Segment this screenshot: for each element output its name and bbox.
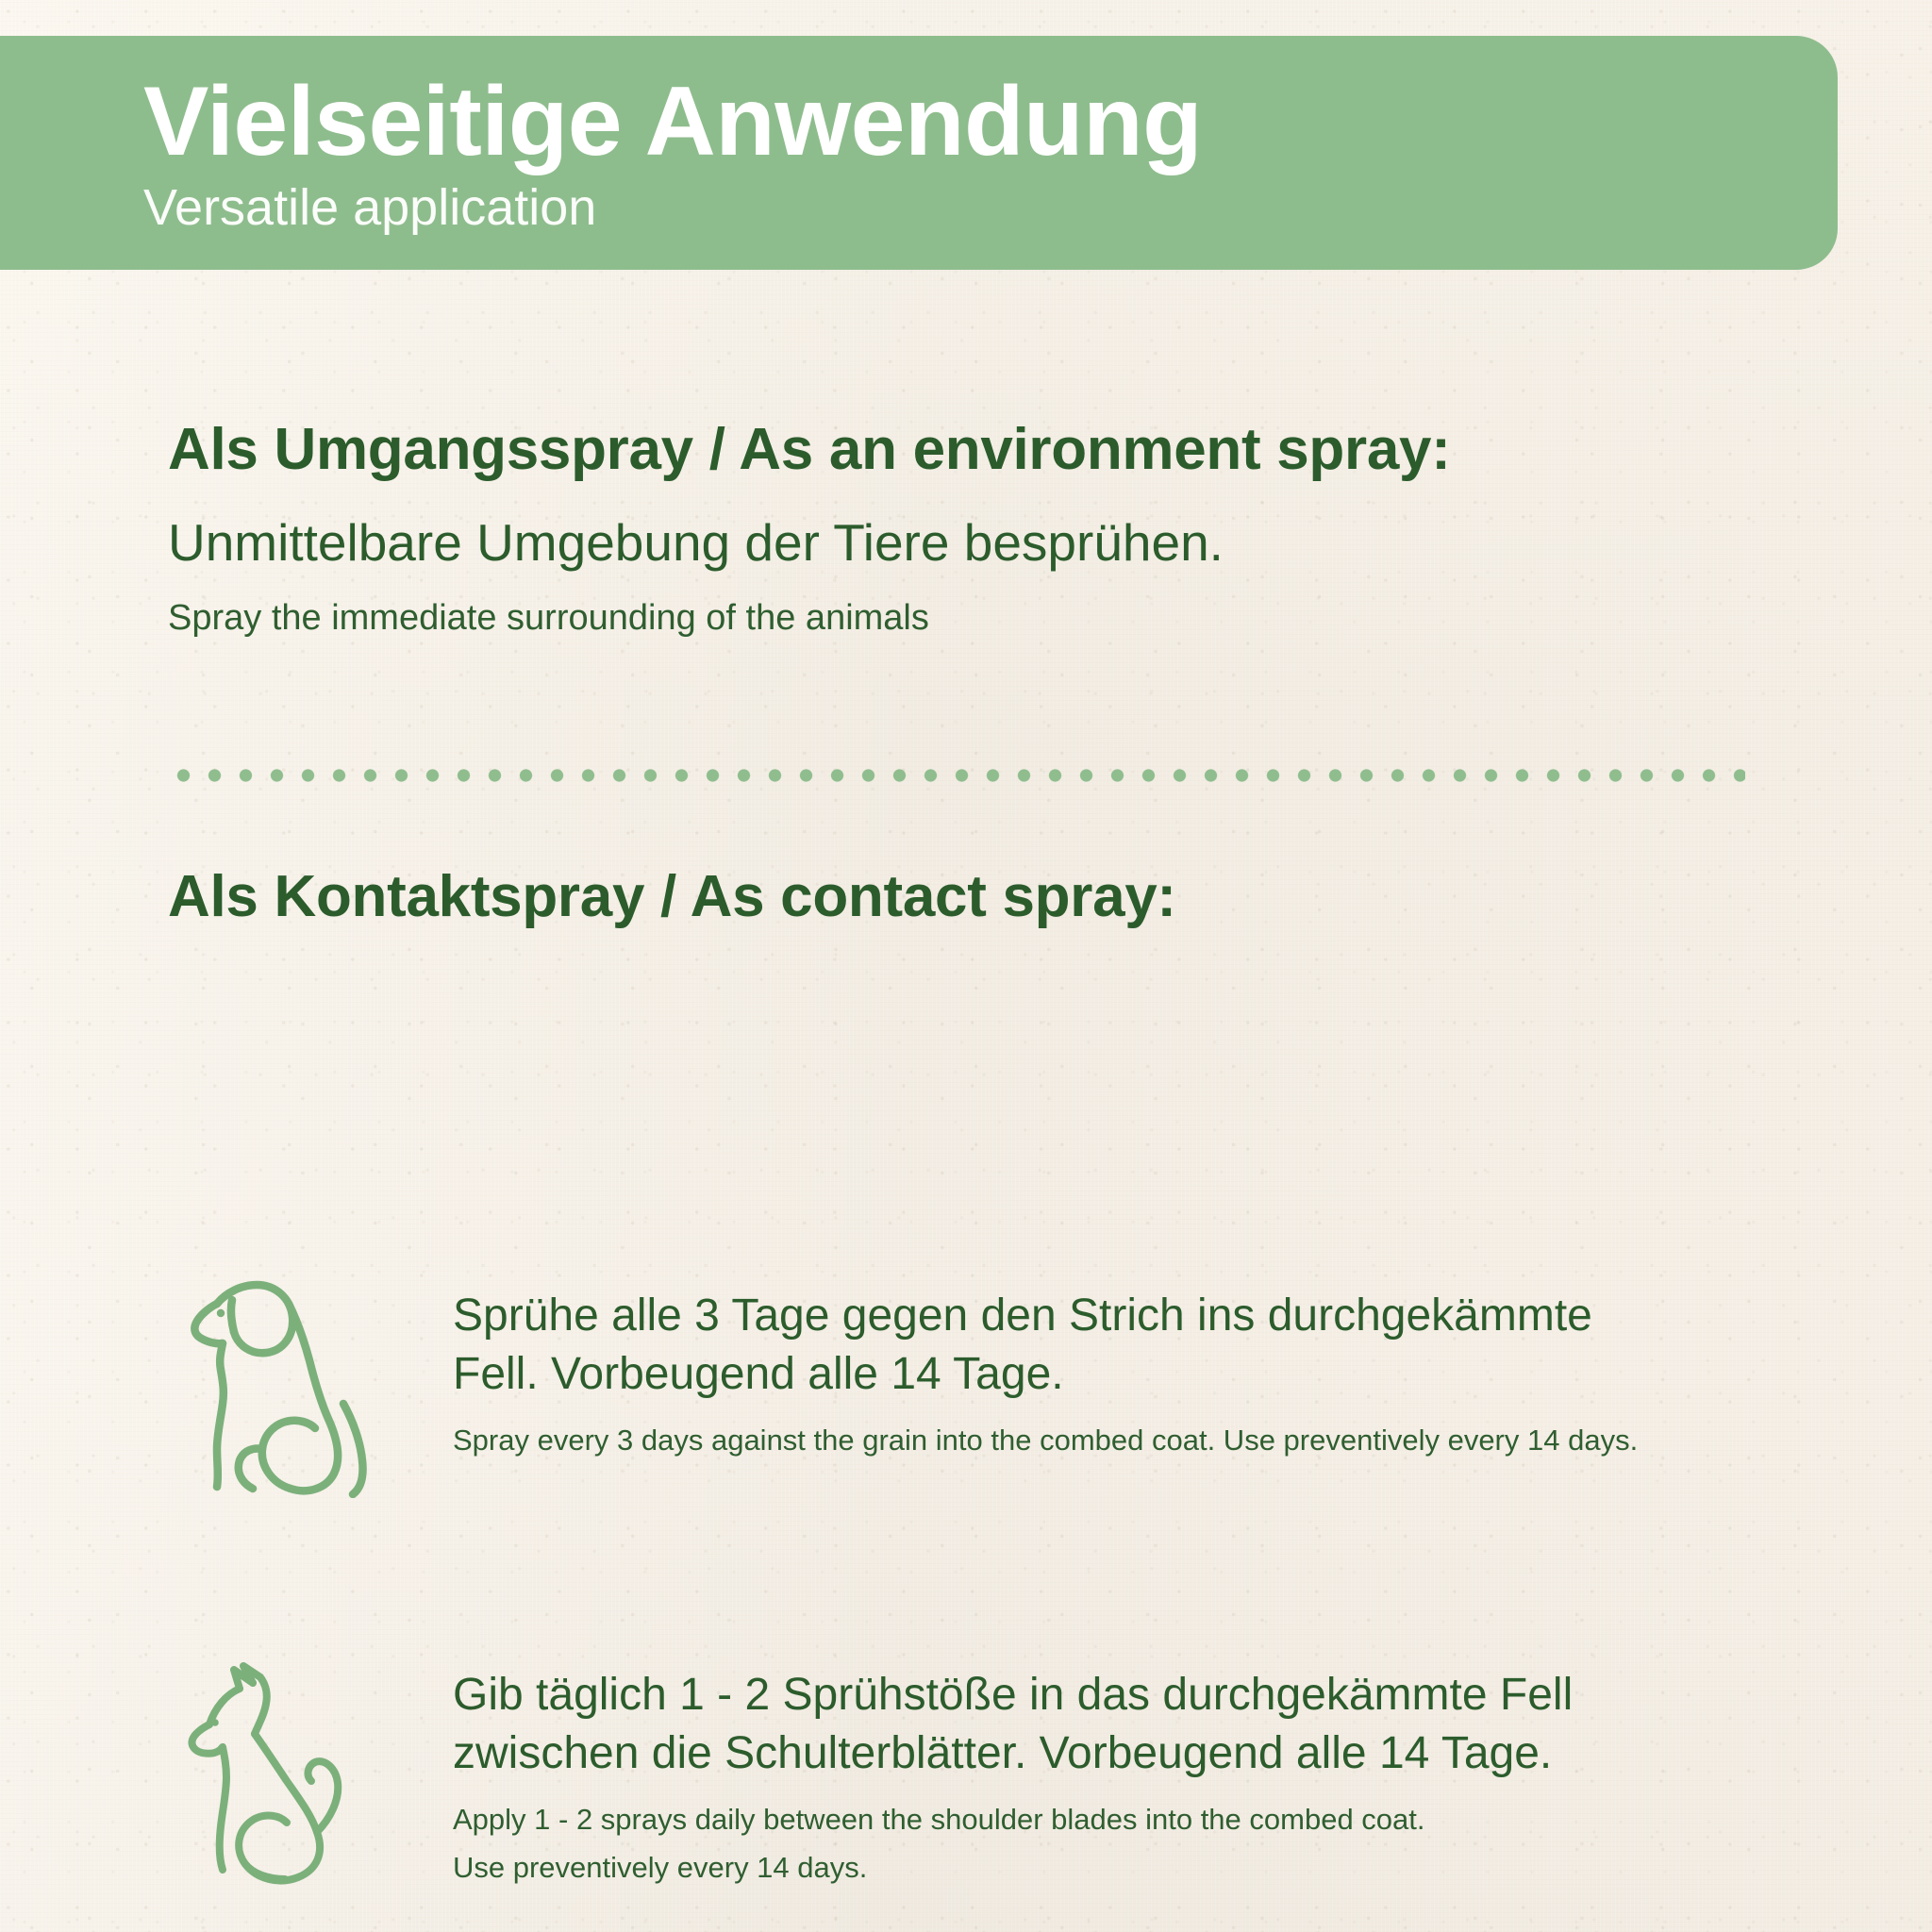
section-contact-spray: Als Kontaktspray / As contact spray: [168, 866, 1819, 927]
page-title: Vielseitige Anwendung [143, 73, 1838, 171]
section-environment-spray: Als Umgangsspray / As an environment spr… [168, 419, 1819, 640]
cat-icon [168, 1649, 385, 1885]
dog-icon [168, 1262, 385, 1498]
cat-text-english-line1: Apply 1 - 2 sprays daily between the sho… [453, 1797, 1887, 1841]
section-heading-contact: Als Kontaktspray / As contact spray: [168, 866, 1819, 927]
section-text-english-environment: Spray the immediate surrounding of the a… [168, 597, 1819, 641]
cat-text-german-line2: zwischen die Schulterblätter. Vorbeugend… [453, 1724, 1887, 1783]
dog-text-german-line1: Sprühe alle 3 Tage gegen den Strich ins … [453, 1287, 1887, 1345]
section-heading-environment: Als Umgangsspray / As an environment spr… [168, 419, 1819, 480]
header-banner: Vielseitige Anwendung Versatile applicat… [0, 36, 1838, 270]
instruction-row-cat: Gib täglich 1 - 2 Sprühstöße in das durc… [168, 1649, 1887, 1890]
cat-instruction-text: Gib täglich 1 - 2 Sprühstöße in das durc… [453, 1666, 1887, 1890]
infographic-page: Vielseitige Anwendung Versatile applicat… [0, 0, 1932, 1932]
dog-text-english-line1: Spray every 3 days against the grain int… [453, 1418, 1887, 1462]
page-subtitle: Versatile application [143, 182, 1838, 233]
cat-text-english-line2: Use preventively every 14 days. [453, 1845, 1887, 1890]
dotted-divider [168, 767, 1745, 784]
cat-text-german-line1: Gib täglich 1 - 2 Sprühstöße in das durc… [453, 1666, 1887, 1724]
dog-text-german-line2: Fell. Vorbeugend alle 14 Tage. [453, 1345, 1887, 1404]
section-text-german-environment: Unmittelbare Umgebung der Tiere besprühe… [168, 514, 1819, 573]
dog-instruction-text: Sprühe alle 3 Tage gegen den Strich ins … [453, 1287, 1887, 1462]
instruction-row-dog: Sprühe alle 3 Tage gegen den Strich ins … [168, 1262, 1887, 1498]
